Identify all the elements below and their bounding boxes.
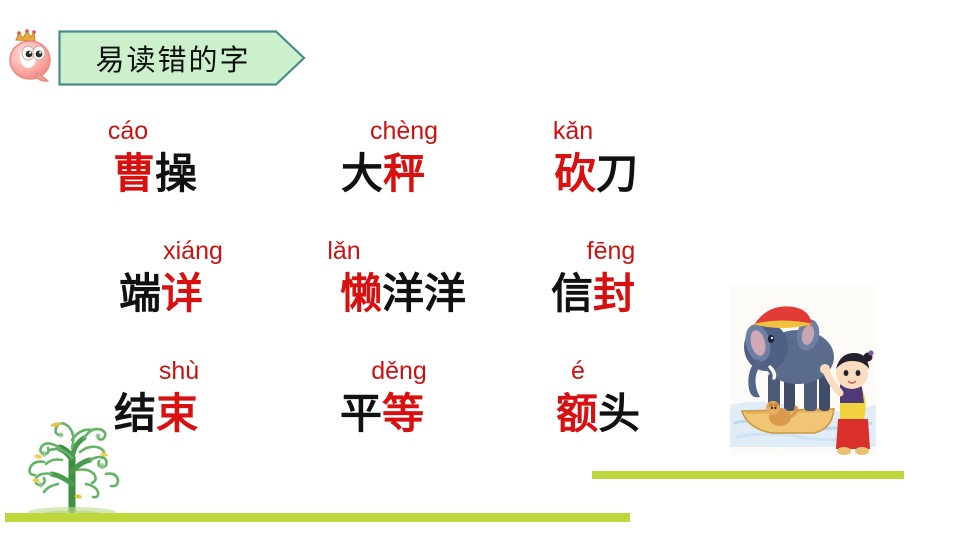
word-characters: 曹操 xyxy=(113,153,197,195)
character: 曹 xyxy=(113,149,155,198)
pinyin-label: é xyxy=(571,359,585,384)
character: 刀 xyxy=(596,149,638,198)
character: 秤 xyxy=(383,149,425,198)
character: 砍 xyxy=(554,149,596,198)
slide-canvas: 易读错的字 cáo曹操chèng大秤kǎn砍刀xiáng端详lǎn懒洋洋fēng… xyxy=(0,0,960,540)
word-row: xiáng端详lǎn懒洋洋fēng信封 xyxy=(0,225,700,345)
character: 头 xyxy=(598,389,640,438)
character: 束 xyxy=(156,389,198,438)
character: 封 xyxy=(593,269,635,318)
character: 平 xyxy=(340,389,382,438)
pinyin-label: xiáng xyxy=(163,239,223,264)
bottom-green-bar xyxy=(5,513,630,522)
character: 等 xyxy=(382,389,424,438)
word-characters: 端详 xyxy=(119,273,203,315)
word-characters: 信封 xyxy=(551,273,635,315)
pinyin-label: lǎn xyxy=(327,239,360,264)
page-title: 易读错的字 xyxy=(58,30,288,86)
pinyin-label: děng xyxy=(371,359,427,384)
character: 信 xyxy=(551,269,593,318)
character: 操 xyxy=(155,149,197,198)
pinyin-label: shù xyxy=(159,359,199,384)
right-green-bar xyxy=(592,471,904,479)
swirl-tree-illustration xyxy=(14,392,138,520)
character: 洋 xyxy=(424,269,466,318)
elephant-on-boat-illustration xyxy=(722,277,884,467)
word-row: cáo曹操chèng大秤kǎn砍刀 xyxy=(0,105,700,225)
character: 详 xyxy=(161,269,203,318)
word-characters: 平等 xyxy=(340,393,424,435)
word-characters: 大秤 xyxy=(341,153,425,195)
character: 懒 xyxy=(340,269,382,318)
character: 洋 xyxy=(382,269,424,318)
pinyin-label: fēng xyxy=(587,239,636,264)
character: 端 xyxy=(119,269,161,318)
word-characters: 砍刀 xyxy=(554,153,638,195)
word-characters: 额头 xyxy=(556,393,640,435)
q-mascot-icon xyxy=(6,28,58,84)
character: 额 xyxy=(556,389,598,438)
character: 大 xyxy=(341,149,383,198)
word-characters: 懒洋洋 xyxy=(340,273,466,315)
pinyin-label: cáo xyxy=(108,119,148,144)
pinyin-label: chèng xyxy=(370,119,438,144)
pinyin-label: kǎn xyxy=(553,119,593,144)
